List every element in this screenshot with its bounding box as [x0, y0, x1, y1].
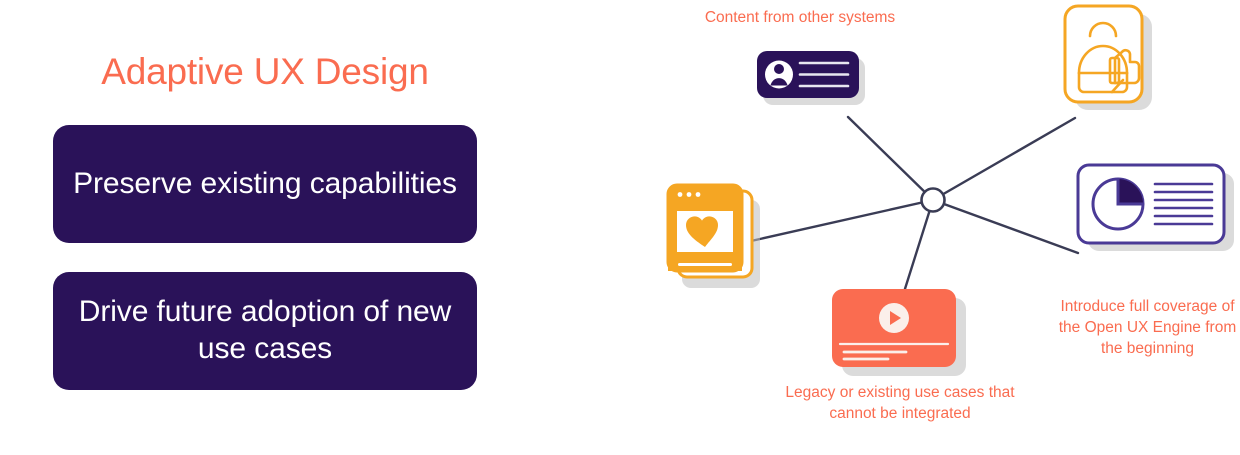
diagram-connectors — [751, 117, 1078, 292]
connector-to-thumbs-node — [933, 118, 1075, 200]
play-button-icon — [879, 303, 909, 333]
statement-pill-preserve[interactable]: Preserve existing capabilities — [53, 125, 477, 243]
node-label-content-other-systems: Content from other systems — [680, 8, 920, 29]
connector-to-browser-node — [751, 200, 933, 241]
node-content-other-systems — [757, 51, 865, 105]
person-avatar-icon — [765, 61, 793, 89]
node-label-legacy-use-cases: Legacy or existing use cases that cannot… — [775, 383, 1025, 425]
slide-canvas: Adaptive UX Design Preserve existing cap… — [0, 0, 1240, 455]
statement-pill-drive-adoption[interactable]: Drive future adoption of new use cases — [53, 272, 477, 390]
node-legacy-use-cases — [832, 289, 966, 376]
hub-and-spoke-diagram: Content from other systems Legacy or exi… — [620, 0, 1240, 455]
node-label-open-ux-engine: Introduce full coverage of the Open UX E… — [1050, 297, 1240, 360]
browser-window-dots — [678, 192, 701, 197]
hub-node-circle — [922, 189, 945, 212]
page-title: Adaptive UX Design — [0, 52, 530, 93]
left-panel: Adaptive UX Design Preserve existing cap… — [0, 0, 530, 455]
node-browser-heart — [668, 185, 760, 288]
connector-to-content-node — [848, 117, 933, 200]
connector-to-engine-node — [933, 200, 1078, 253]
node-open-ux-engine — [1078, 165, 1234, 251]
node-thumbs-up — [1065, 6, 1152, 110]
pie-chart-icon — [1093, 179, 1143, 229]
connector-to-legacy-node — [904, 200, 933, 292]
